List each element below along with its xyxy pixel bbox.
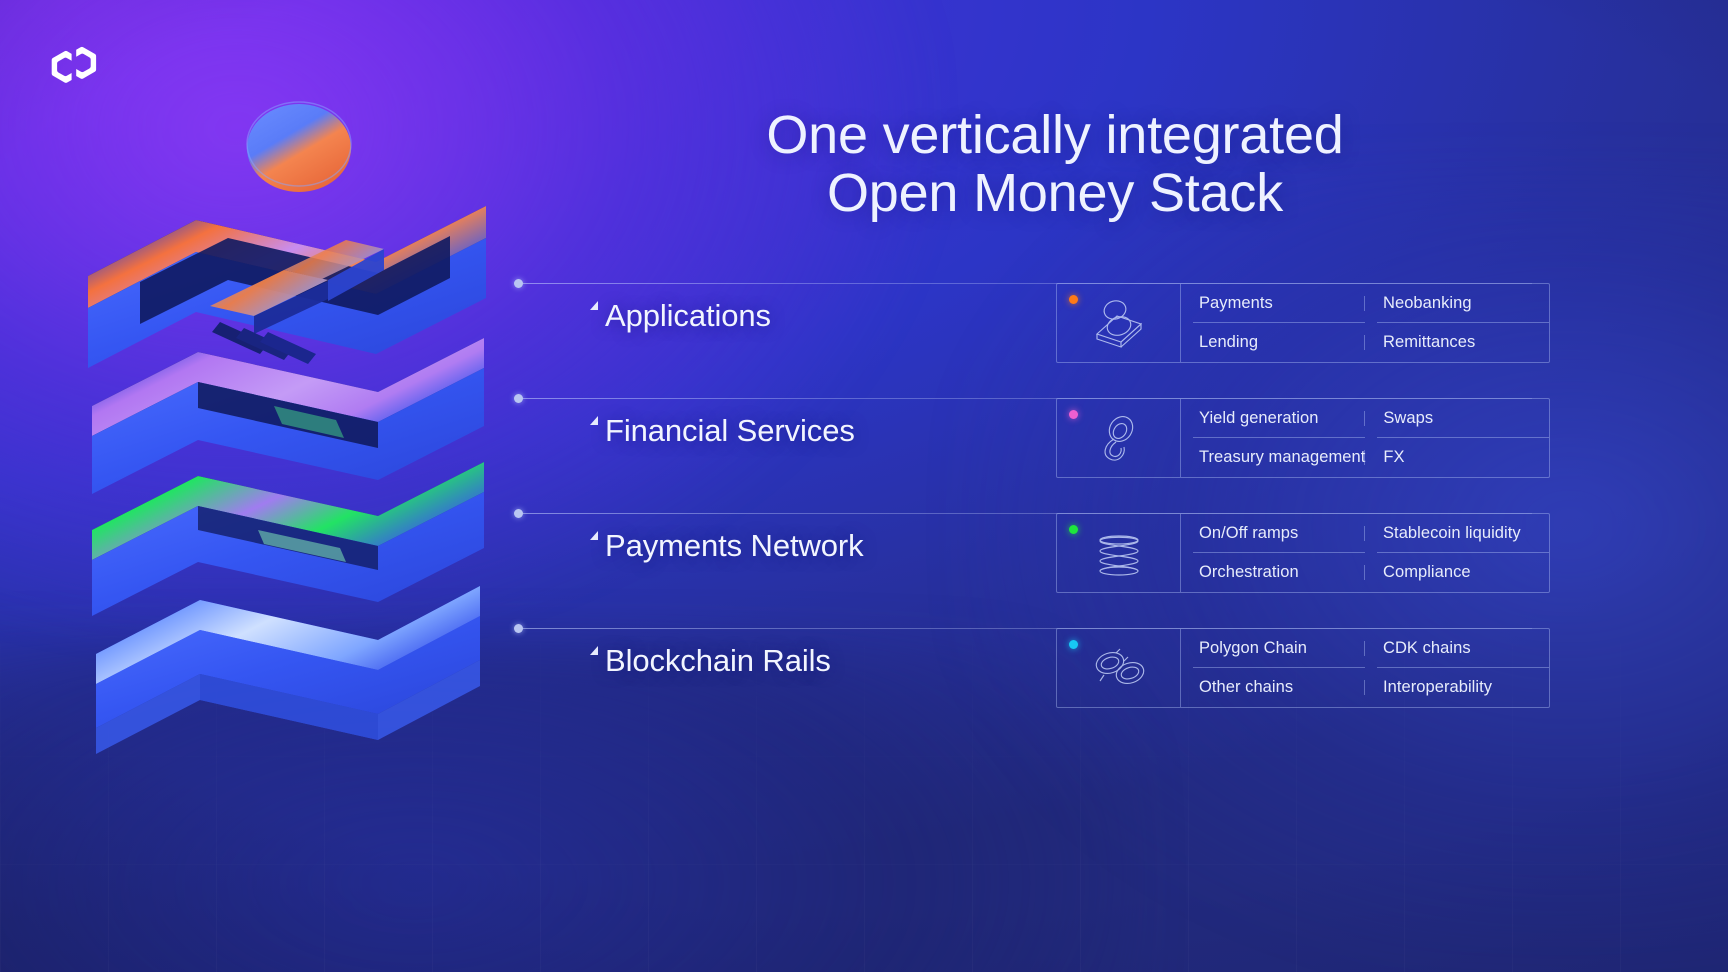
tag-grid-applications: Payments Neobanking Lending Remittances [1181,284,1549,362]
tag-item[interactable]: Orchestration [1181,553,1365,592]
stack-row-blockchain-rails[interactable]: Blockchain Rails [518,629,1550,707]
icon-cell-applications [1057,284,1181,362]
row-marker-icon [590,646,598,655]
stack-rows: Applications Pa [518,284,1550,707]
tag-grid-payments-network: On/Off ramps Stablecoin liquidity Orches… [1181,514,1549,592]
tag-item[interactable]: Treasury management [1181,438,1365,477]
polygon-logo [47,41,99,89]
tag-item[interactable]: FX [1365,438,1549,477]
row-divider-dot [514,394,523,403]
stacked-coins-icon [1087,294,1151,352]
tag-item[interactable]: Polygon Chain [1181,629,1365,668]
status-dot-payments-network [1069,525,1078,534]
3d-layered-hexagon-stack [78,100,498,760]
status-dot-blockchain-rails [1069,640,1078,649]
tag-item[interactable]: Neobanking [1365,284,1549,323]
tag-item[interactable]: Compliance [1365,553,1549,592]
row-label-blockchain-rails: Blockchain Rails [590,643,831,679]
row-marker-icon [590,301,598,310]
row-marker-icon [590,531,598,540]
tag-item[interactable]: Lending [1181,323,1365,362]
row-divider-dot [514,624,523,633]
row-label-payments-network: Payments Network [590,528,864,564]
row-label-applications: Applications [590,298,771,334]
row-card-financial-services: Yield generation Swaps Treasury manageme… [1056,398,1550,478]
tag-item[interactable]: Remittances [1365,323,1549,362]
tag-grid-financial-services: Yield generation Swaps Treasury manageme… [1181,399,1549,477]
title-line-1: One vertically integrated [766,105,1343,165]
tag-grid-blockchain-rails: Polygon Chain CDK chains Other chains In… [1181,629,1549,707]
row-card-payments-network: On/Off ramps Stablecoin liquidity Orches… [1056,513,1550,593]
status-dot-financial-services [1069,410,1078,419]
tag-item[interactable]: Stablecoin liquidity [1365,514,1549,553]
stack-row-applications[interactable]: Applications Pa [518,284,1550,362]
tag-item[interactable]: Payments [1181,284,1365,323]
stack-row-payments-network[interactable]: Payments Network On/Off ramps [518,514,1550,592]
coiled-spring-icon [1088,527,1150,579]
page-title: One vertically integrated Open Money Sta… [540,106,1570,223]
tag-item[interactable]: Swaps [1365,399,1549,438]
row-marker-icon [590,416,598,425]
tag-item[interactable]: Yield generation [1181,399,1365,438]
row-label-financial-services: Financial Services [590,413,855,449]
looped-ribbon-icon [1090,409,1148,467]
tag-item[interactable]: Interoperability [1365,668,1549,707]
tag-item[interactable]: On/Off ramps [1181,514,1365,553]
title-line-2: Open Money Stack [540,164,1570,222]
row-card-applications: Payments Neobanking Lending Remittances [1056,283,1550,363]
chain-links-icon [1086,641,1152,695]
stack-row-financial-services[interactable]: Financial Services Yield gener [518,399,1550,477]
row-divider-dot [514,509,523,518]
row-divider-dot [514,279,523,288]
tag-item[interactable]: CDK chains [1365,629,1549,668]
status-dot-applications [1069,295,1078,304]
icon-cell-payments-network [1057,514,1181,592]
icon-cell-financial-services [1057,399,1181,477]
tag-item[interactable]: Other chains [1181,668,1365,707]
slide-content: One vertically integrated Open Money Sta… [540,0,1640,972]
row-card-blockchain-rails: Polygon Chain CDK chains Other chains In… [1056,628,1550,708]
icon-cell-blockchain-rails [1057,629,1181,707]
